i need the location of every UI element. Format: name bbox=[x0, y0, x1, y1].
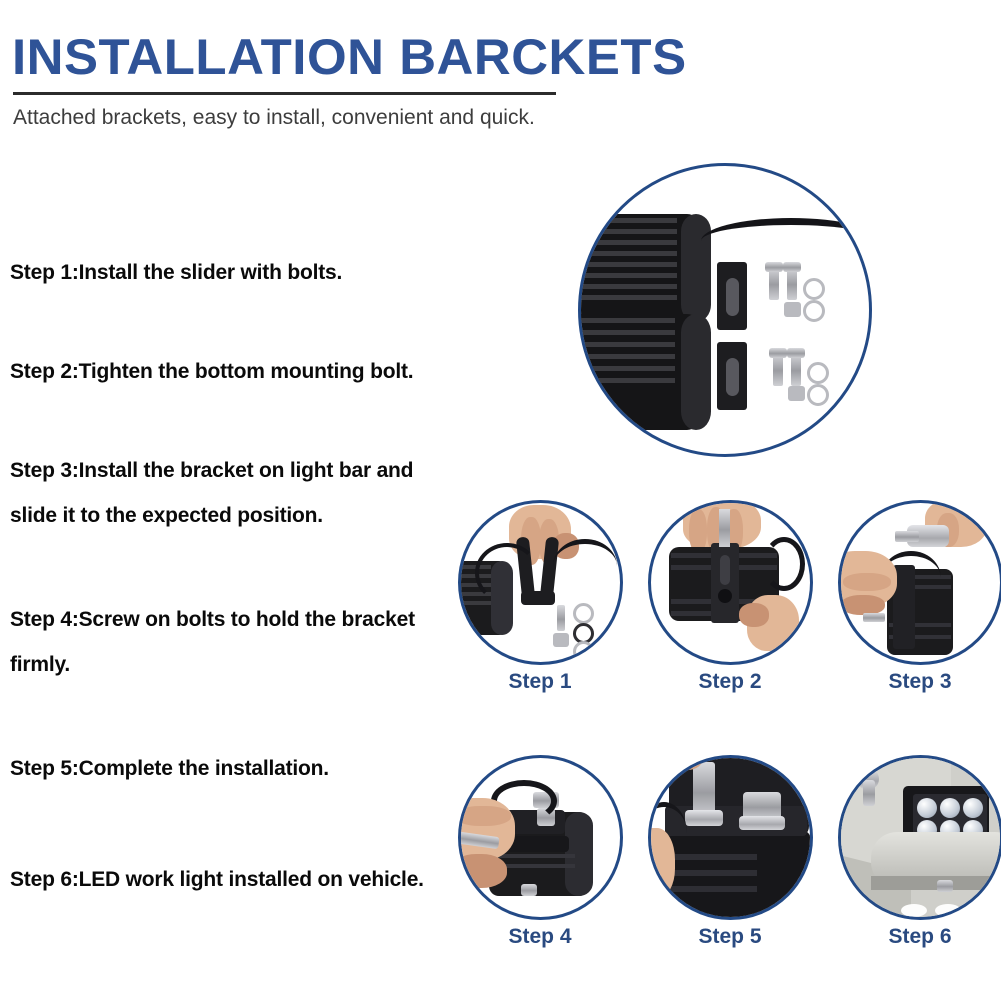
thumbnail-step-2 bbox=[648, 500, 813, 665]
instruction-step-4-continued: firmly. bbox=[10, 654, 70, 676]
thumbnail-caption-step-4: Step 4 bbox=[460, 925, 620, 949]
hero-scene bbox=[581, 166, 869, 454]
thumbnail-step-3 bbox=[838, 500, 1001, 665]
page-title: INSTALLATION BARCKETS bbox=[12, 32, 687, 82]
thumbnail-step-5-scene bbox=[651, 758, 810, 917]
thumbnail-step-5 bbox=[648, 755, 813, 920]
instruction-step-5: Step 5:Complete the installation. bbox=[10, 758, 329, 780]
thumbnail-caption-step-6: Step 6 bbox=[840, 925, 1000, 949]
hero-photo-kit-contents bbox=[578, 163, 872, 457]
thumbnail-caption-step-1: Step 1 bbox=[460, 670, 620, 694]
thumbnail-caption-step-2: Step 2 bbox=[650, 670, 810, 694]
instruction-step-3: Step 3:Install the bracket on light bar … bbox=[10, 460, 413, 482]
thumbnail-step-1 bbox=[458, 500, 623, 665]
instruction-step-2: Step 2:Tighten the bottom mounting bolt. bbox=[10, 361, 413, 383]
thumbnail-step-4-scene bbox=[461, 758, 620, 917]
instruction-step-4: Step 4:Screw on bolts to hold the bracke… bbox=[10, 609, 415, 631]
thumbnail-caption-step-3: Step 3 bbox=[840, 670, 1000, 694]
thumbnail-step-6 bbox=[838, 755, 1001, 920]
thumbnail-step-2-scene bbox=[651, 503, 810, 662]
thumbnail-step-4 bbox=[458, 755, 623, 920]
title-divider bbox=[13, 92, 556, 95]
thumbnail-step-3-scene bbox=[841, 503, 1000, 662]
instruction-step-1: Step 1:Install the slider with bolts. bbox=[10, 262, 342, 284]
thumbnail-step-1-scene bbox=[461, 503, 620, 662]
thumbnail-step-6-scene bbox=[841, 758, 1000, 917]
instruction-step-3-continued: slide it to the expected position. bbox=[10, 505, 323, 527]
instruction-step-6: Step 6:LED work light installed on vehic… bbox=[10, 869, 424, 891]
installation-instructions-page: INSTALLATION BARCKETS Attached brackets,… bbox=[0, 0, 1001, 1001]
page-subtitle: Attached brackets, easy to install, conv… bbox=[13, 104, 535, 131]
thumbnail-caption-step-5: Step 5 bbox=[650, 925, 810, 949]
